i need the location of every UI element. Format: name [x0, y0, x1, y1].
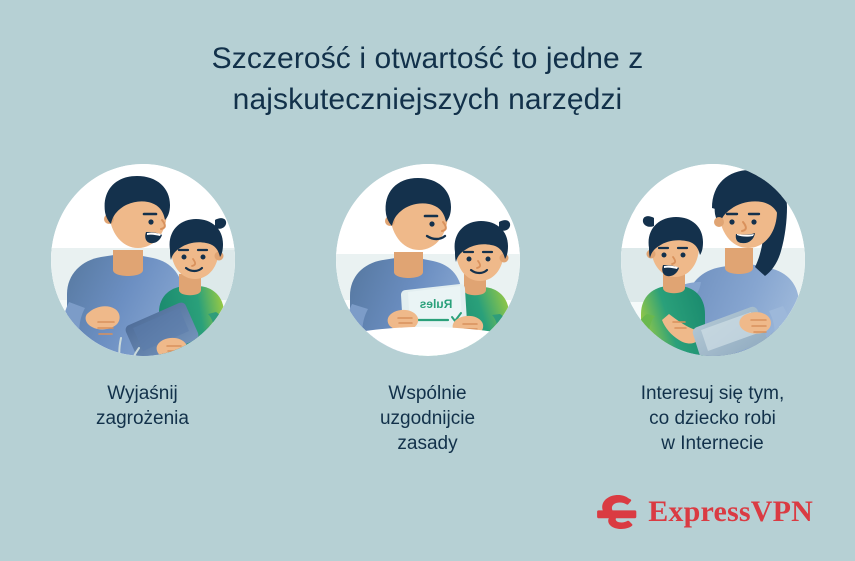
card-caption: Wspólnie uzgodnijcie zasady — [380, 381, 475, 456]
expressvpn-logo[interactable]: ExpressVPN — [597, 495, 813, 529]
title-line-2: najskuteczniejszych narzędzi — [0, 79, 855, 120]
illustration-father-and-boy-with-tablet-talking — [43, 162, 243, 367]
caption-line-3: zasady — [380, 431, 475, 456]
card-explain-risks: Wyjaśnij zagrożenia — [0, 162, 285, 456]
caption-line-1: Wspólnie — [380, 381, 475, 406]
caption-line-2: uzgodnijcie — [380, 406, 475, 431]
page-title: Szczerość i otwartość to jedne z najskut… — [0, 38, 855, 120]
caption-line-1: Interesuj się tym, — [641, 381, 785, 406]
caption-line-2: zagrożenia — [96, 406, 189, 431]
rules-paper-title: Rules — [419, 297, 452, 311]
advice-cards: Wyjaśnij zagrożenia — [0, 162, 855, 456]
expressvpn-e-mark — [597, 495, 637, 529]
caption-line-3: w Internecie — [641, 431, 785, 456]
card-caption: Interesuj się tym, co dziecko robi w Int… — [641, 381, 785, 456]
scene-svg-1 — [43, 162, 243, 367]
card-be-interested-online: Interesuj się tym, co dziecko robi w Int… — [570, 162, 855, 456]
scene-svg-2: Rules — [328, 162, 528, 367]
infographic-root: Szczerość i otwartość to jedne z najskut… — [0, 0, 855, 561]
title-line-1: Szczerość i otwartość to jedne z — [0, 38, 855, 79]
illustration-mother-and-boy-sharing-tablet — [613, 162, 813, 367]
caption-line-1: Wyjaśnij — [96, 381, 189, 406]
scene-svg-3 — [613, 162, 813, 367]
caption-line-2: co dziecko robi — [641, 406, 785, 431]
expressvpn-wordmark: ExpressVPN — [648, 497, 813, 527]
card-agree-rules: Rules — [285, 162, 570, 456]
card-caption: Wyjaśnij zagrożenia — [96, 381, 189, 431]
illustration-father-and-boy-holding-rules-checklist: Rules — [328, 162, 528, 367]
